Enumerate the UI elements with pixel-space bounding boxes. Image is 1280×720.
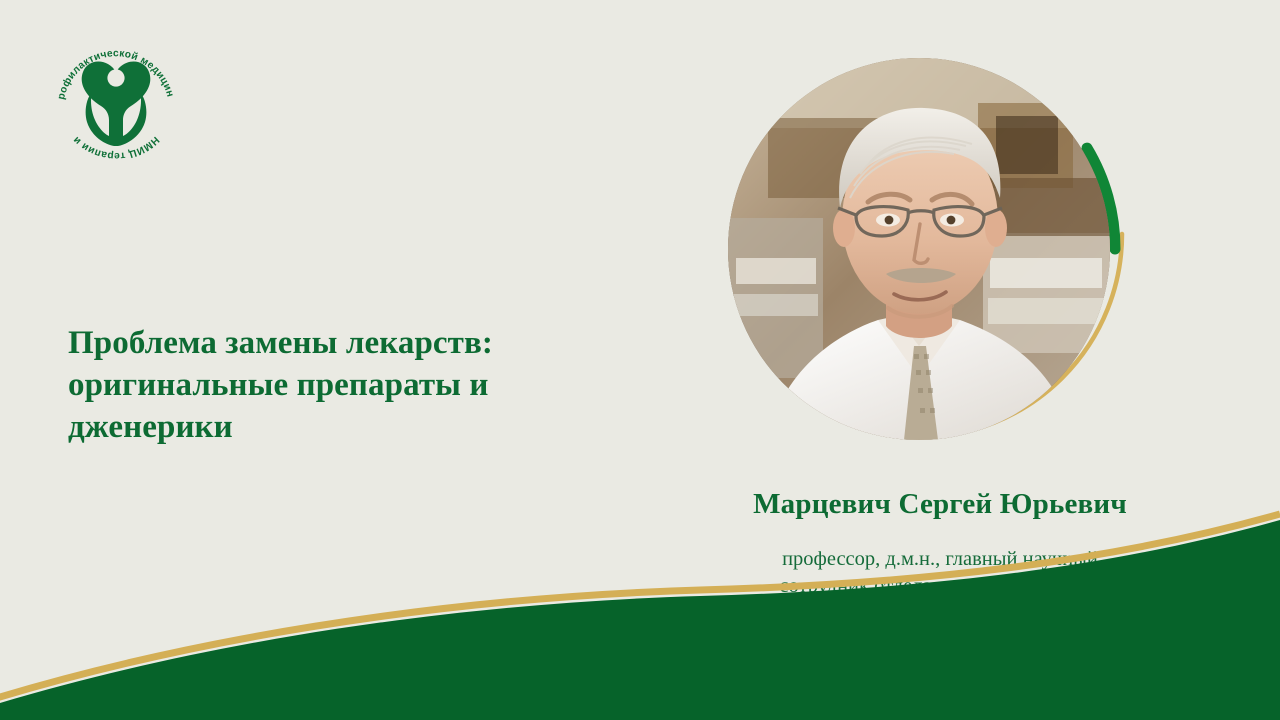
speaker-role-line-3: фармакотерапии — [660, 600, 1220, 627]
nmic-logo: профилактической медицины НМИЦ терапии и — [46, 28, 186, 170]
title-slide: профилактической медицины НМИЦ терапии и… — [0, 0, 1280, 720]
logo-emblem-icon — [82, 62, 151, 147]
speaker-name: Марцевич Сергей Юрьевич — [640, 488, 1240, 521]
speaker-role-line-2: сотрудник отдела профилактической — [660, 573, 1220, 600]
page-title-line-3: дженерики — [68, 406, 628, 448]
portrait-image — [728, 58, 1110, 440]
page-title-line-2: оригинальные препараты и — [68, 364, 628, 406]
speaker-portrait — [700, 28, 1160, 458]
speaker-role-line-1: профессор, д.м.н., главный научный — [660, 546, 1220, 573]
speaker-role: профессор, д.м.н., главный научный сотру… — [660, 546, 1220, 627]
page-title: Проблема замены лекарств: оригинальные п… — [68, 322, 628, 449]
page-title-line-1: Проблема замены лекарств: — [68, 322, 628, 364]
